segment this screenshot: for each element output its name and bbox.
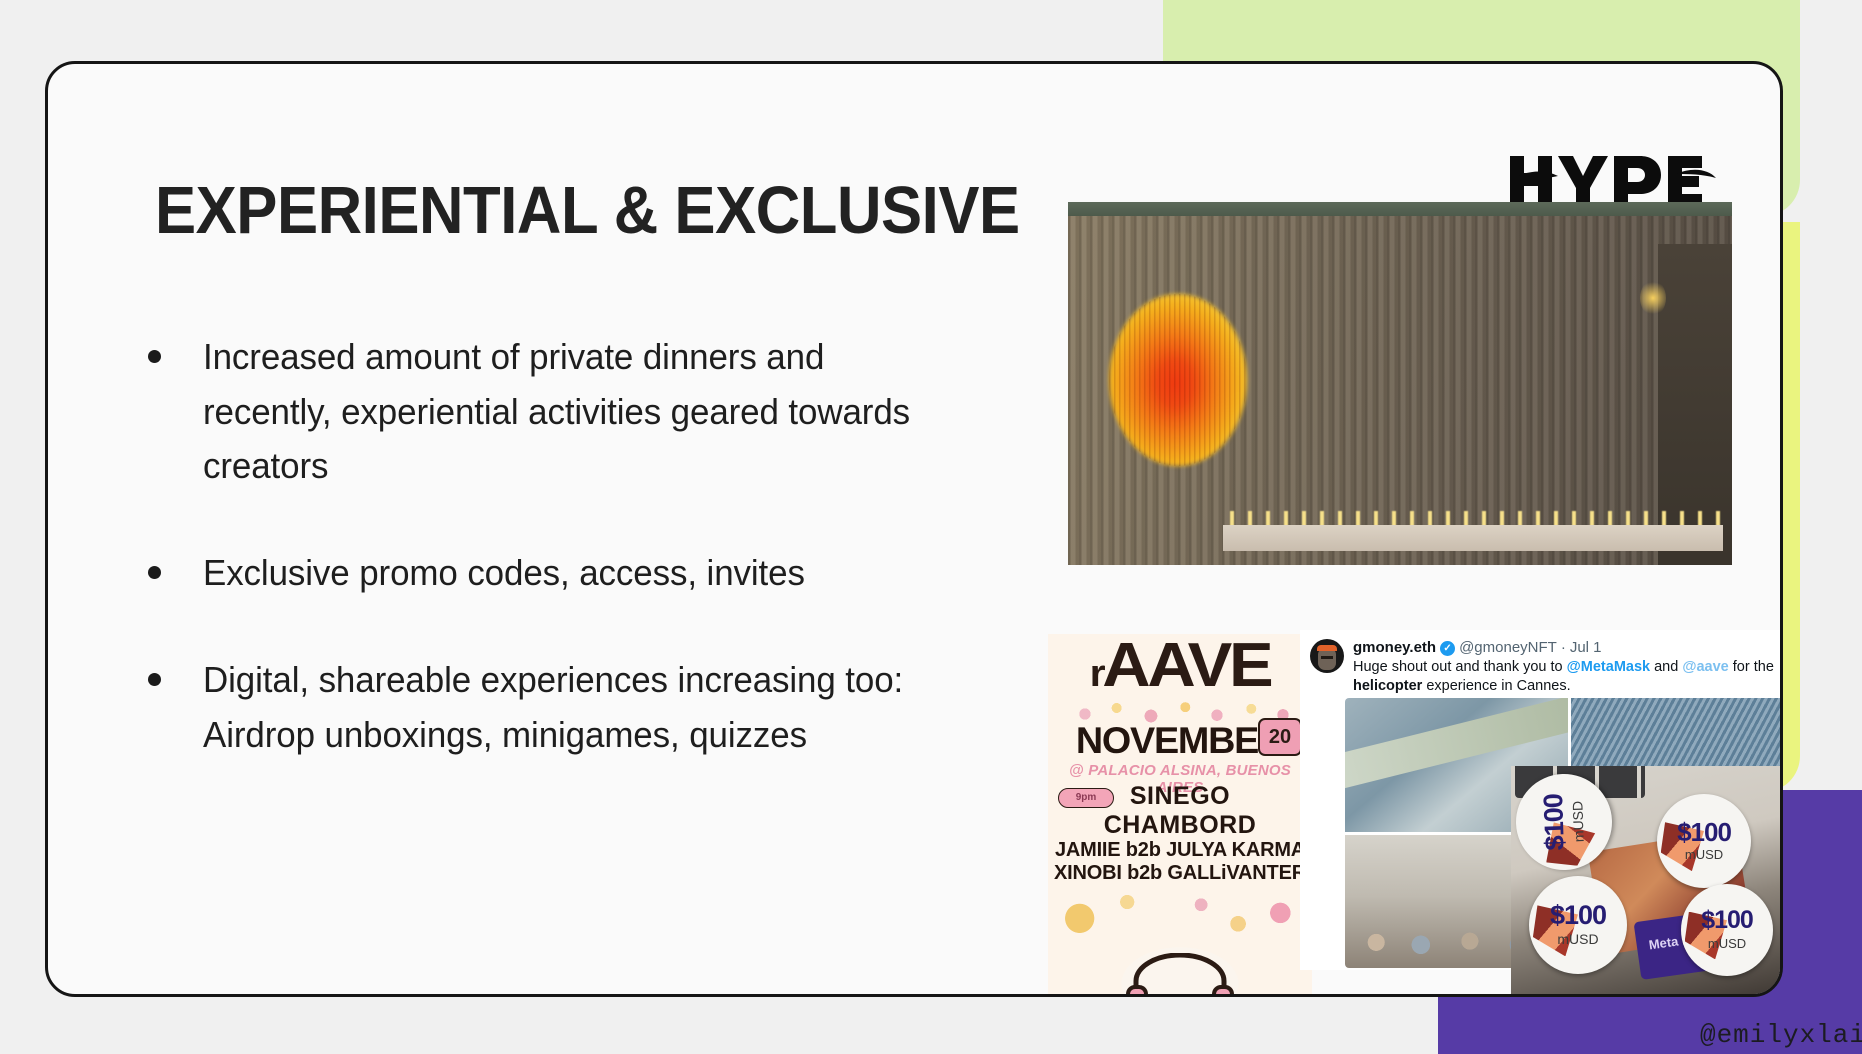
tweet-text-run: Huge shout out and thank you to — [1353, 659, 1567, 675]
headphones-icon — [1126, 953, 1234, 997]
raave-lineup-line: SINEGO — [1048, 782, 1312, 811]
tweet-mention-link[interactable]: @MetaMask — [1567, 659, 1650, 675]
raave-poster: rAAVE NOVEMBER 20 @ PALACIO ALSINA, BUEN… — [1048, 634, 1312, 997]
raave-title-main: AAVE — [1102, 634, 1270, 700]
musd-coaster: $100 mUSD — [1657, 794, 1751, 888]
coaster-amount: $100 — [1537, 774, 1571, 871]
tweet-text-run: for the — [1729, 659, 1774, 675]
dinner-table — [1223, 525, 1723, 551]
raave-lineup: SINEGO CHAMBORD JAMIIE b2b JULYA KARMA X… — [1048, 782, 1312, 885]
coaster-unit: mUSD — [1657, 847, 1751, 862]
raave-lineup-line: CHAMBORD — [1048, 811, 1312, 840]
raave-title-prefix: r — [1090, 653, 1103, 695]
slide-canvas: EXPERIENTIAL & EXCLUSIVE — [0, 0, 1862, 1054]
raave-lineup-line: XINOBI b2b GALLiVANTER — [1048, 862, 1312, 885]
tweet-separator: · — [1561, 639, 1566, 657]
raave-lineup-line: JAMIIE b2b JULYA KARMA — [1048, 839, 1312, 862]
tweet-date[interactable]: Jul 1 — [1570, 639, 1602, 657]
watermark-handle: @emilyxlai — [1700, 1020, 1862, 1050]
coaster-amount: $100 — [1529, 900, 1627, 931]
tweet-text-run: and — [1650, 659, 1682, 675]
musd-coaster: $100 mUSD — [1529, 876, 1627, 974]
tweet-text-emphasis: helicopter — [1353, 678, 1422, 694]
coaster-amount: $100 — [1657, 817, 1751, 848]
media-cluster: rAAVE NOVEMBER 20 @ PALACIO ALSINA, BUEN… — [48, 64, 1780, 994]
slide-card: EXPERIENTIAL & EXCLUSIVE — [45, 61, 1783, 997]
tweet-body: gmoney.eth ✓ @gmoneyNFT · Jul 1 Huge sho… — [1353, 639, 1783, 697]
tweet-text: Huge shout out and thank you to @MetaMas… — [1353, 658, 1783, 697]
quarry-dinner-photo — [1068, 202, 1732, 565]
coaster-amount: $100 — [1681, 906, 1773, 935]
projected-sun-texture — [1109, 294, 1247, 466]
coaster-unit: mUSD — [1568, 773, 1587, 869]
tweet-text-run: experience in Cannes. — [1422, 678, 1570, 694]
avatar-hair — [1317, 645, 1337, 651]
tweet-mention-link[interactable]: @aave — [1682, 659, 1728, 675]
coaster-unit: mUSD — [1529, 931, 1627, 947]
avatar-face — [1318, 649, 1336, 670]
tweet-author-row: gmoney.eth ✓ @gmoneyNFT · Jul 1 — [1353, 639, 1783, 657]
verified-badge-icon: ✓ — [1440, 641, 1455, 656]
tweet-handle[interactable]: @gmoneyNFT — [1459, 639, 1557, 657]
avatar[interactable] — [1310, 639, 1344, 673]
tweet-header: gmoney.eth ✓ @gmoneyNFT · Jul 1 Huge sho… — [1300, 630, 1783, 697]
quarry-right-glow — [1640, 280, 1666, 316]
raave-day-badge: 20 — [1258, 718, 1302, 756]
musd-coaster: $100 mUSD — [1681, 884, 1773, 976]
raave-poster-title: rAAVE — [1048, 636, 1312, 697]
tweet-display-name[interactable]: gmoney.eth — [1353, 639, 1436, 657]
quarry-sky-strip — [1068, 202, 1732, 216]
avatar-eyes — [1321, 656, 1333, 659]
raave-bottom-illustration — [1048, 883, 1312, 997]
musd-coasters-photo: Meta Mask $100 mUSD $100 mUSD $100 mUSD — [1511, 766, 1783, 997]
coaster-unit: mUSD — [1681, 936, 1773, 951]
